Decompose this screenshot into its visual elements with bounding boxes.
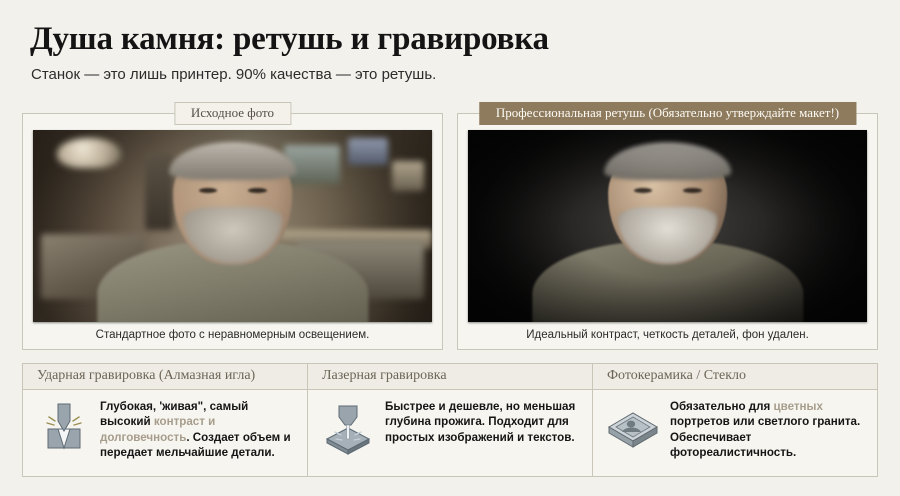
before-photo-box: Исходное фото <box>22 113 443 350</box>
page-subtitle: Станок — это лишь принтер. 90% качества … <box>31 66 900 83</box>
method-title: Ударная гравировка (Алмазная игла) <box>23 364 307 390</box>
slide-root: Душа камня: ретушь и гравировка Станок —… <box>0 0 900 496</box>
photoceramic-plate-icon <box>605 399 661 455</box>
photo-comparison-row: Исходное фото <box>22 113 878 350</box>
after-caption: Идеальный контраст, четкость деталей, фо… <box>468 322 867 343</box>
method-description: Быстрее и дешевле, но меньшая глубина пр… <box>385 399 584 445</box>
studio-vignette <box>468 130 867 322</box>
before-photo-image <box>33 130 432 322</box>
portrait-figure-before <box>33 130 432 322</box>
method-body: Обязательно для цветных портретов или св… <box>593 390 877 476</box>
laser-engraver-icon <box>320 399 376 455</box>
before-caption: Стандартное фото с неравномерным освещен… <box>33 322 432 343</box>
after-photo-image <box>468 130 867 322</box>
method-description: Глубокая, 'живая", самый высокий контрас… <box>100 399 299 461</box>
engraving-methods-table: Ударная гравировка (Алмазная игла) <box>22 363 878 477</box>
method-title: Лазерная гравировка <box>308 364 592 390</box>
before-legend: Исходное фото <box>174 102 291 125</box>
after-legend: Профессиональная ретушь (Обязательно утв… <box>479 102 856 125</box>
after-photo-box: Профессиональная ретушь (Обязательно утв… <box>457 113 878 350</box>
method-column-laser: Лазерная гравировка <box>308 364 593 476</box>
method-column-photoceramic: Фотокерамика / Стекло Обязательно для цв… <box>593 364 877 476</box>
method-column-impact: Ударная гравировка (Алмазная игла) <box>23 364 308 476</box>
page-title: Душа камня: ретушь и гравировка <box>30 22 900 57</box>
diamond-needle-icon <box>35 399 91 455</box>
method-body: Быстрее и дешевле, но меньшая глубина пр… <box>308 390 592 476</box>
method-title: Фотокерамика / Стекло <box>593 364 877 390</box>
slide-header: Душа камня: ретушь и гравировка Станок —… <box>0 0 900 83</box>
method-description: Обязательно для цветных портретов или св… <box>670 399 869 461</box>
method-body: Глубокая, 'живая", самый высокий контрас… <box>23 390 307 476</box>
